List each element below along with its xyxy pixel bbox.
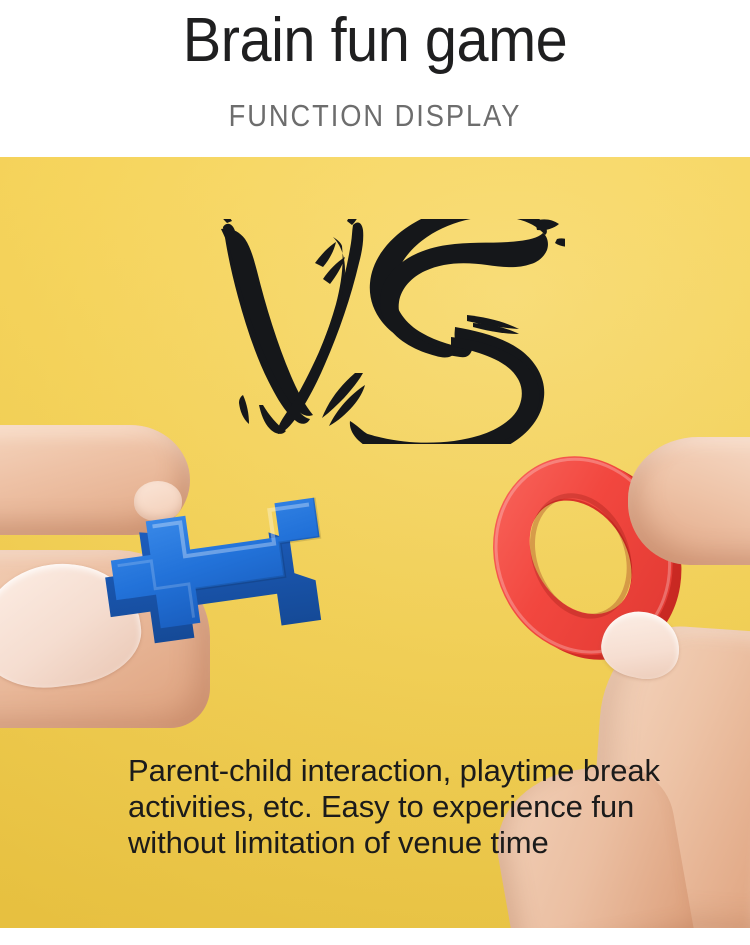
page-title: Brain fun game [26, 4, 724, 78]
promo-page: Brain fun game FUNCTION DISPLAY [0, 0, 750, 945]
photo-caption: Parent-child interaction, playtime break… [128, 753, 740, 861]
right-index-finger [628, 437, 750, 565]
blue-cross-piece [75, 461, 341, 663]
product-photo: Parent-child interaction, playtime break… [0, 157, 750, 928]
header-band: Brain fun game FUNCTION DISPLAY [0, 0, 750, 157]
vs-brush-mark [205, 219, 565, 444]
footer-strip [0, 928, 750, 945]
page-subtitle: FUNCTION DISPLAY [45, 96, 705, 136]
